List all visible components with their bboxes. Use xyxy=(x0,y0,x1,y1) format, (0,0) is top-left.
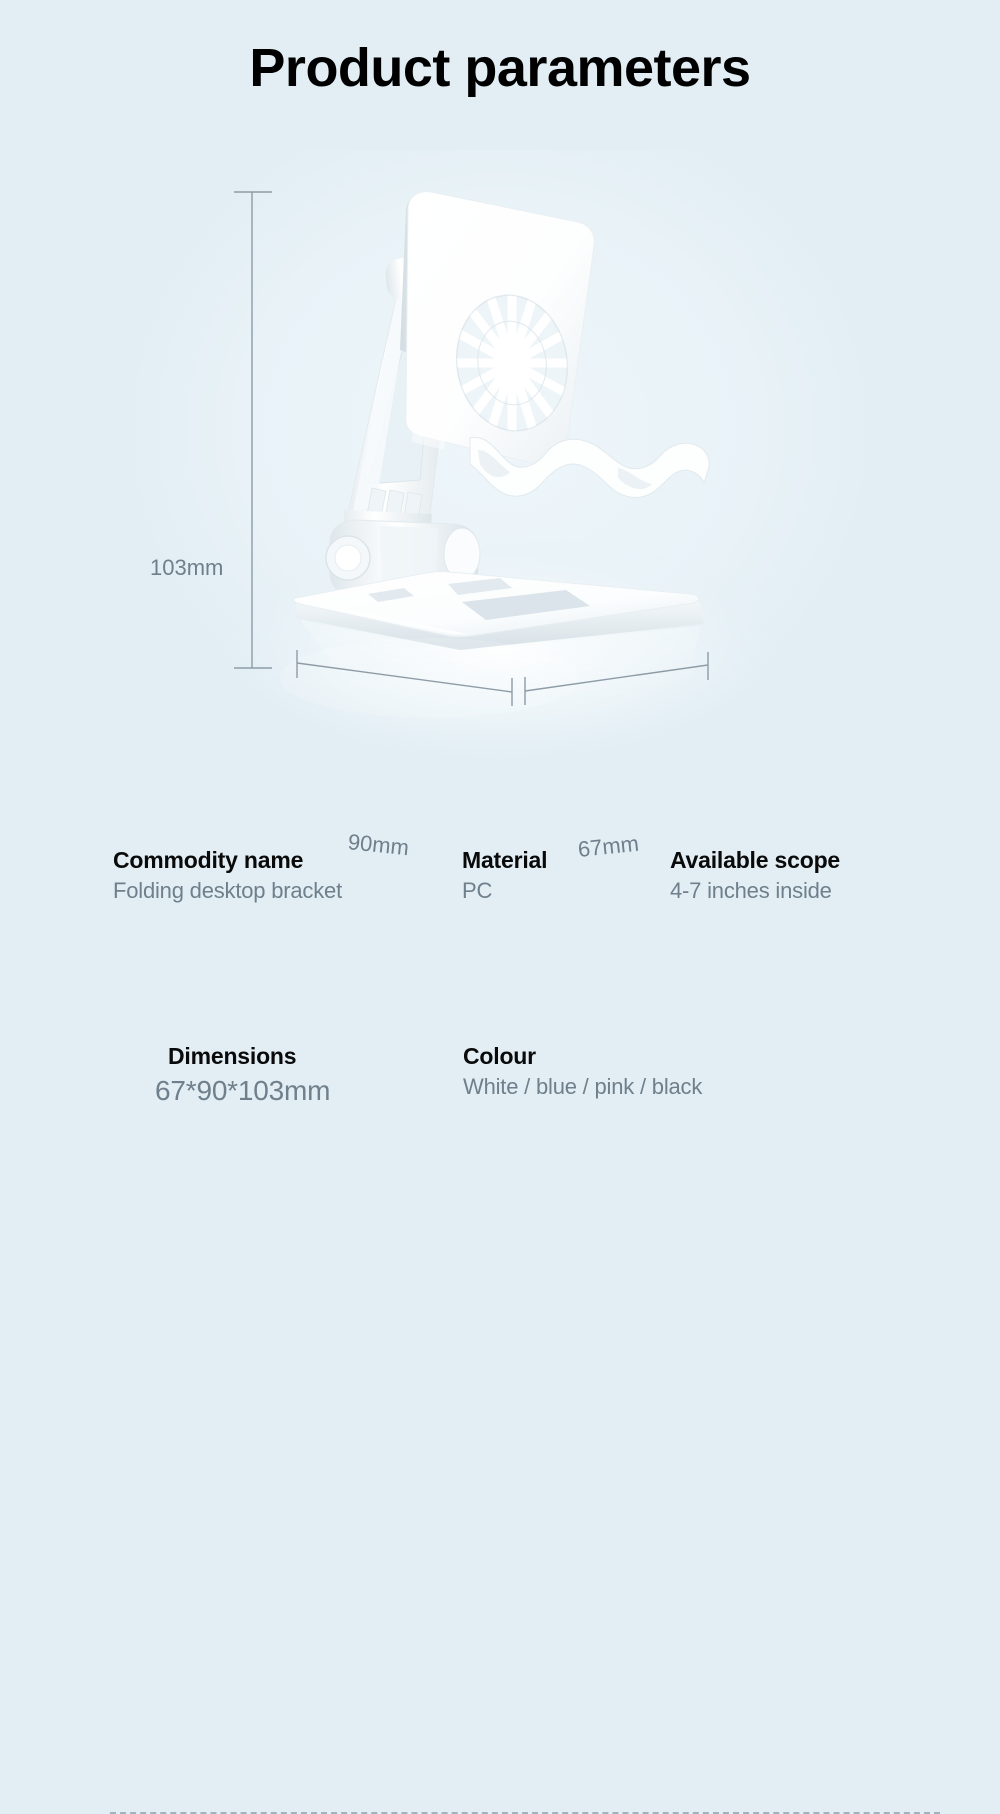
spec-cell-material: Material PC xyxy=(462,845,547,906)
spec-cell-dimensions: Dimensions 67*90*103mm xyxy=(168,1041,330,1110)
spec-label-available-scope: Available scope xyxy=(670,845,840,875)
spec-label-material: Material xyxy=(462,845,547,875)
dimension-label-height: 103mm xyxy=(150,555,223,581)
spec-value-dimensions: 67*90*103mm xyxy=(155,1072,330,1110)
spec-row-1: Commodity name Folding desktop bracket M… xyxy=(0,845,1000,963)
product-illustration-stage: 103mm 90mm 67mm xyxy=(0,150,1000,790)
spec-value-material: PC xyxy=(462,876,547,906)
spec-row-2: Dimensions 67*90*103mm Colour White / bl… xyxy=(0,1041,1000,1159)
spec-label-dimensions: Dimensions xyxy=(168,1041,330,1071)
product-parameters-page: Product parameters xyxy=(0,0,1000,1229)
spec-value-colour: White / blue / pink / black xyxy=(463,1072,702,1102)
back-panel xyxy=(400,192,594,467)
spec-label-commodity-name: Commodity name xyxy=(113,845,342,875)
spec-label-colour: Colour xyxy=(463,1041,702,1071)
spec-value-available-scope: 4-7 inches inside xyxy=(670,876,840,906)
spec-value-commodity-name: Folding desktop bracket xyxy=(113,876,342,906)
spec-table: Commodity name Folding desktop bracket M… xyxy=(0,845,1000,1159)
spec-cell-available-scope: Available scope 4-7 inches inside xyxy=(670,845,840,906)
page-title: Product parameters xyxy=(0,36,1000,100)
product-stand-illustration xyxy=(0,150,1000,790)
spec-cell-commodity-name: Commodity name Folding desktop bracket xyxy=(113,845,342,906)
spec-cell-colour: Colour White / blue / pink / black xyxy=(463,1041,702,1102)
